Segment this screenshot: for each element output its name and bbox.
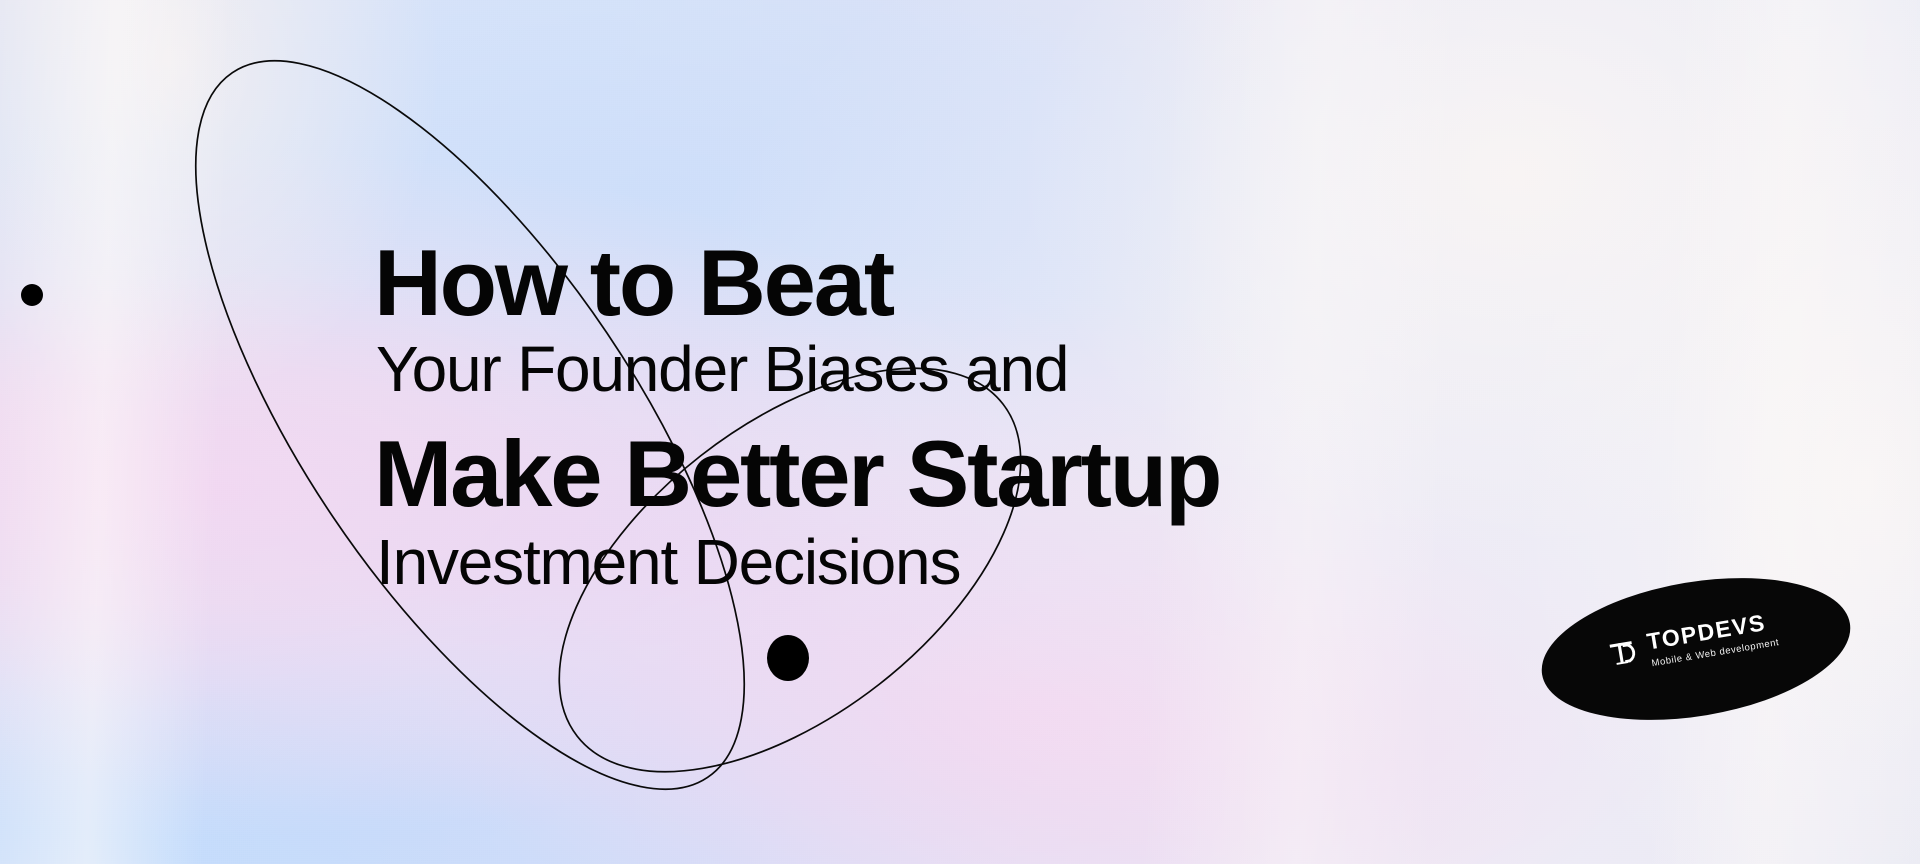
topdevs-logo-badge[interactable]: TOPDEVS Mobile & Web development	[1540, 582, 1852, 716]
headline-block: How to Beat Your Founder Biases and Make…	[374, 236, 1574, 594]
headline-line-3: Make Better Startup	[374, 427, 1574, 520]
orbit-dot-left-icon	[21, 284, 43, 306]
td-monogram-icon	[1606, 633, 1645, 672]
headline-line-4: Investment Decisions	[376, 530, 1574, 594]
headline-line-1: How to Beat	[374, 236, 1574, 329]
orbit-dot-center-icon	[767, 635, 809, 681]
article-hero-banner: How to Beat Your Founder Biases and Make…	[0, 0, 1920, 864]
headline-line-2: Your Founder Biases and	[376, 337, 1574, 401]
